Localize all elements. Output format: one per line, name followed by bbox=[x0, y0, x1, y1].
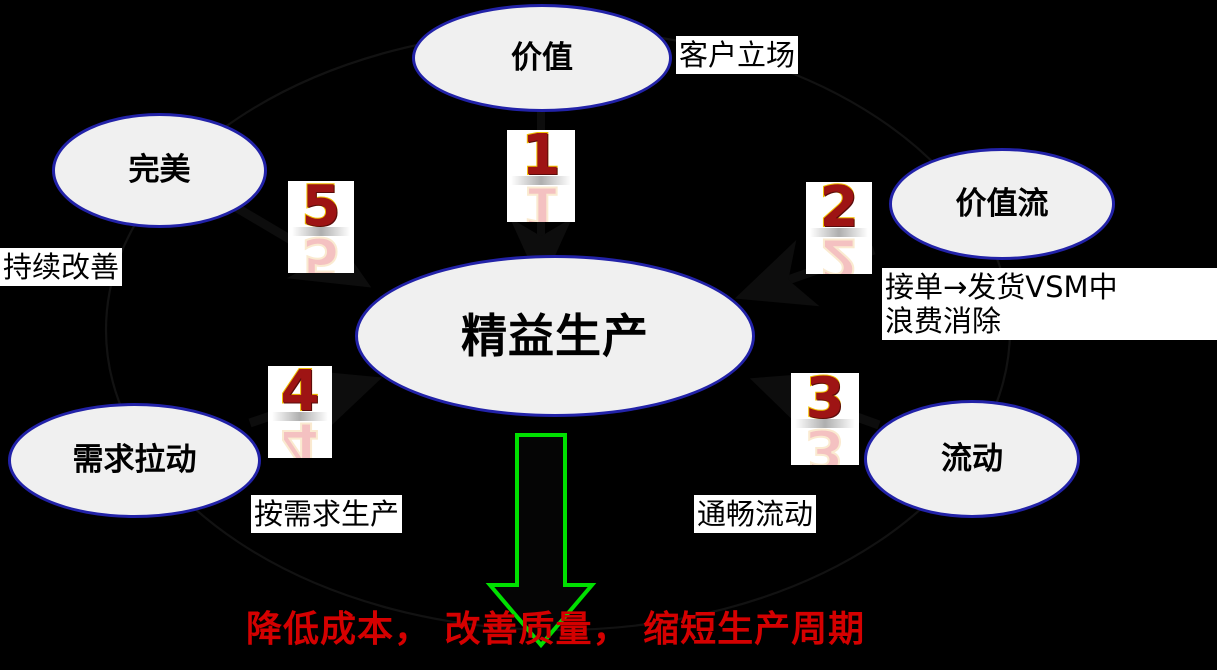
node-perfection: 完美 bbox=[52, 113, 267, 228]
lean-production-diagram: 价值 完美 价值流 精益生产 需求拉动 流动 客户立场 持续改善 接单→发货VS… bbox=[0, 0, 1217, 670]
callout-value-stream: 接单→发货VSM中 浪费消除 bbox=[882, 268, 1217, 340]
step-number-3: 3 3 bbox=[791, 373, 859, 465]
step-number-1-value: 1 bbox=[522, 130, 561, 182]
step-number-2-value: 2 bbox=[820, 182, 859, 234]
step-number-5-sheen bbox=[292, 227, 350, 236]
node-pull: 需求拉动 bbox=[8, 403, 261, 518]
node-pull-label: 需求拉动 bbox=[73, 445, 197, 476]
step-number-4: 4 4 bbox=[268, 366, 332, 458]
outcome-text: 降低成本， 改善质量， 缩短生产周期 bbox=[246, 600, 865, 652]
node-value: 价值 bbox=[412, 4, 672, 112]
node-value-stream: 价值流 bbox=[889, 148, 1115, 260]
step-number-2: 2 2 bbox=[806, 182, 872, 274]
callout-pull: 按需求生产 bbox=[251, 495, 402, 533]
step-number-5-value: 5 bbox=[302, 181, 341, 233]
node-perfection-label: 完美 bbox=[129, 155, 191, 186]
node-value-stream-label: 价值流 bbox=[956, 189, 1049, 220]
step-number-3-sheen bbox=[795, 419, 855, 428]
step-number-1: 1 1 bbox=[507, 130, 575, 222]
step-number-5: 5 5 bbox=[288, 181, 354, 273]
step-number-2-sheen bbox=[810, 228, 868, 237]
node-lean-production: 精益生产 bbox=[355, 255, 755, 417]
step-number-4-sheen bbox=[272, 412, 328, 421]
callout-value: 客户立场 bbox=[676, 36, 798, 74]
node-lean-production-label: 精益生产 bbox=[461, 313, 649, 359]
step-number-3-value: 3 bbox=[806, 373, 845, 425]
node-flow: 流动 bbox=[864, 400, 1080, 518]
node-value-label: 价值 bbox=[511, 43, 573, 74]
step-number-4-value: 4 bbox=[281, 366, 320, 418]
callout-perfection: 持续改善 bbox=[0, 248, 122, 286]
callout-flow: 通畅流动 bbox=[694, 495, 816, 533]
node-flow-label: 流动 bbox=[941, 444, 1003, 475]
step-number-1-sheen bbox=[511, 176, 571, 185]
